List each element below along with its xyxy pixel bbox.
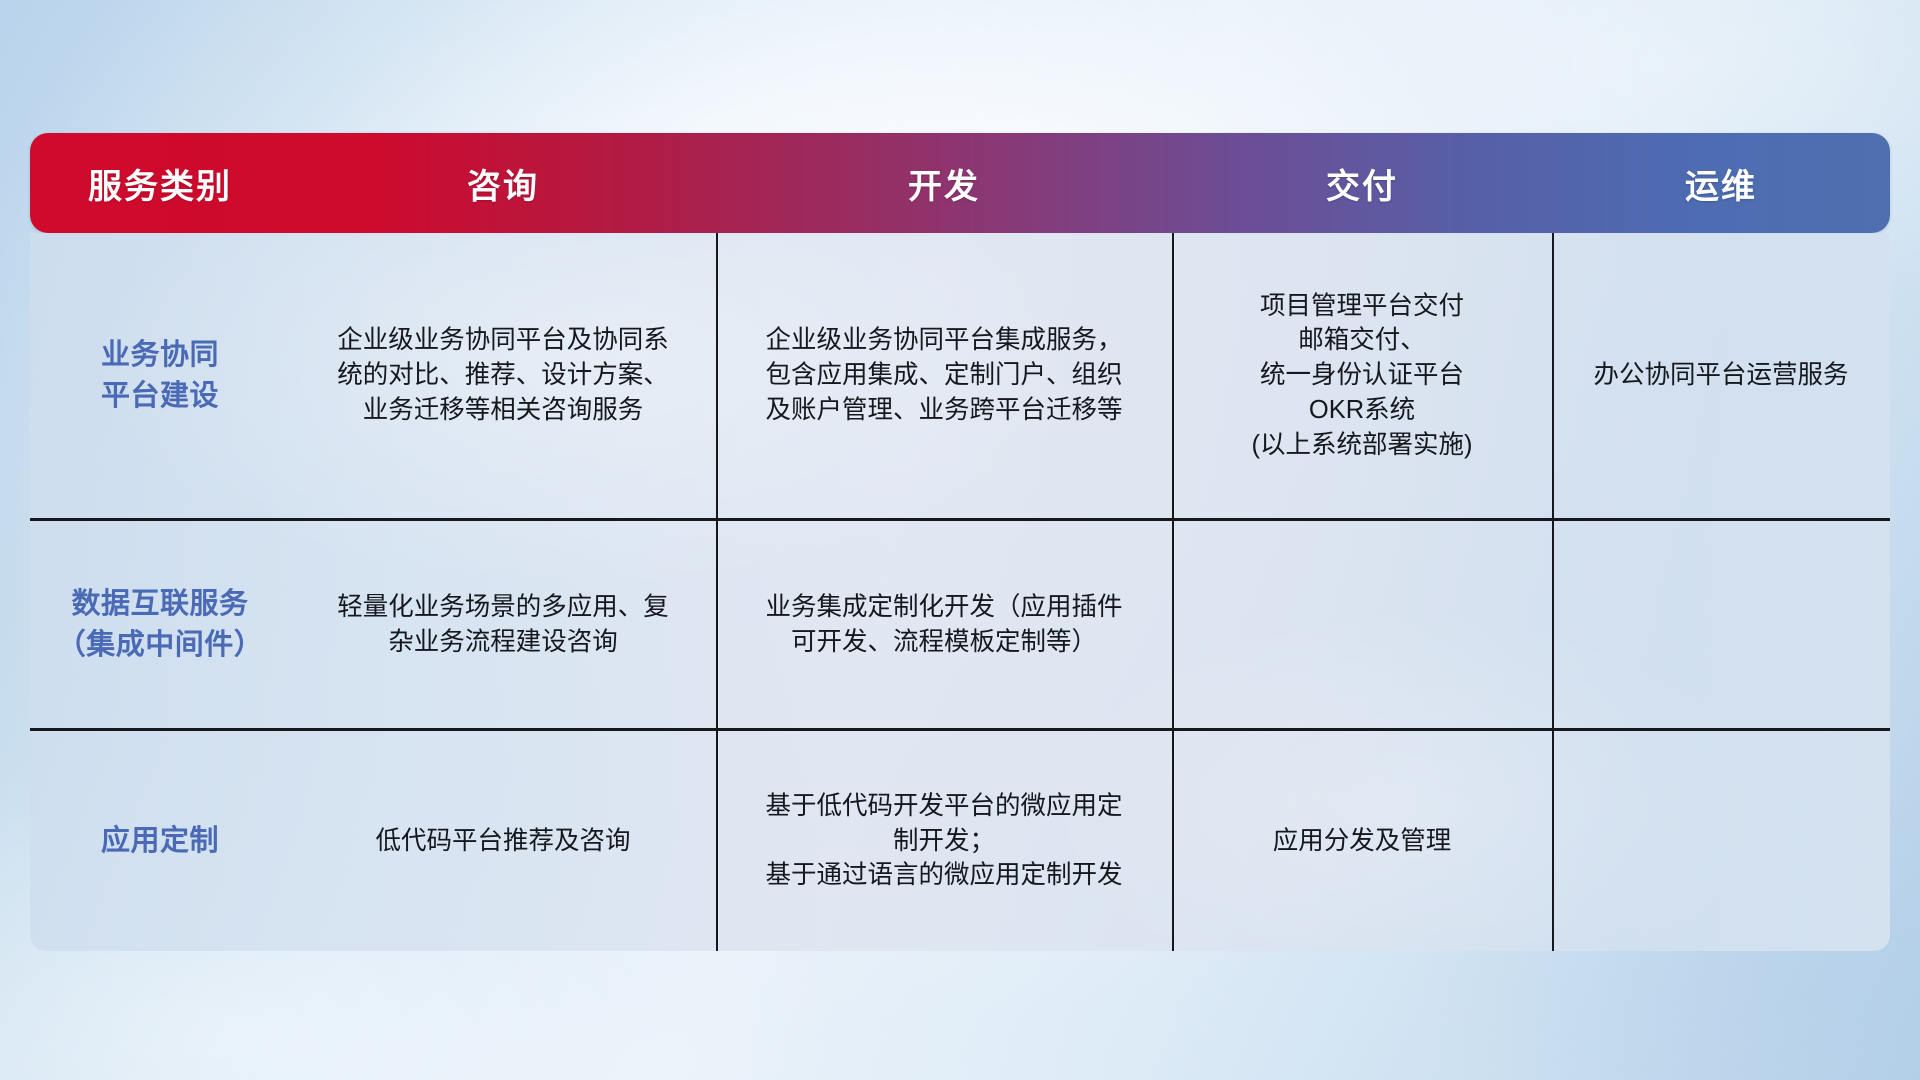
row-divider-2 — [30, 728, 1890, 731]
column-header-consulting: 咨询 — [290, 133, 716, 233]
cell-operations — [1552, 521, 1890, 728]
cell-consulting: 企业级业务协同平台及协同系 统的对比、推荐、设计方案、 业务迁移等相关咨询服务 — [290, 233, 716, 518]
column-header-category: 服务类别 — [30, 133, 290, 233]
column-divider-development-delivery — [1172, 233, 1174, 951]
column-header-operations: 运维 — [1552, 133, 1890, 233]
table-body: 业务协同 平台建设 企业级业务协同平台及协同系 统的对比、推荐、设计方案、 业务… — [30, 233, 1890, 951]
cell-development: 企业级业务协同平台集成服务， 包含应用集成、定制门户、组织 及账户管理、业务跨平… — [716, 233, 1172, 518]
cell-development: 业务集成定制化开发（应用插件 可开发、流程模板定制等） — [716, 521, 1172, 728]
cell-development: 基于低代码开发平台的微应用定 制开发； 基于通过语言的微应用定制开发 — [716, 731, 1172, 951]
column-header-development: 开发 — [716, 133, 1172, 233]
cell-delivery: 应用分发及管理 — [1172, 731, 1552, 951]
cell-consulting: 轻量化业务场景的多应用、复 杂业务流程建设咨询 — [290, 521, 716, 728]
table-row: 业务协同 平台建设 企业级业务协同平台及协同系 统的对比、推荐、设计方案、 业务… — [30, 233, 1890, 518]
cell-delivery: 项目管理平台交付 邮箱交付、 统一身份认证平台 OKR系统 (以上系统部署实施) — [1172, 233, 1552, 518]
column-header-delivery: 交付 — [1172, 133, 1552, 233]
cell-consulting: 低代码平台推荐及咨询 — [290, 731, 716, 951]
row-category-label: 数据互联服务 （集成中间件） — [30, 521, 290, 728]
column-divider-consulting-development — [716, 233, 718, 951]
column-divider-delivery-operations — [1552, 233, 1554, 951]
service-matrix-table: 服务类别 咨询 开发 交付 运维 业务协同 平台建设 企业级业务协同平台及协同系… — [30, 133, 1890, 951]
table-row: 数据互联服务 （集成中间件） 轻量化业务场景的多应用、复 杂业务流程建设咨询 业… — [30, 521, 1890, 728]
table-header-row: 服务类别 咨询 开发 交付 运维 — [30, 133, 1890, 233]
row-category-label: 业务协同 平台建设 — [30, 233, 290, 518]
cell-operations — [1552, 731, 1890, 951]
cell-operations: 办公协同平台运营服务 — [1552, 233, 1890, 518]
row-divider-1 — [30, 518, 1890, 521]
cell-delivery — [1172, 521, 1552, 728]
table-row: 应用定制 低代码平台推荐及咨询 基于低代码开发平台的微应用定 制开发； 基于通过… — [30, 731, 1890, 951]
row-category-label: 应用定制 — [30, 731, 290, 951]
